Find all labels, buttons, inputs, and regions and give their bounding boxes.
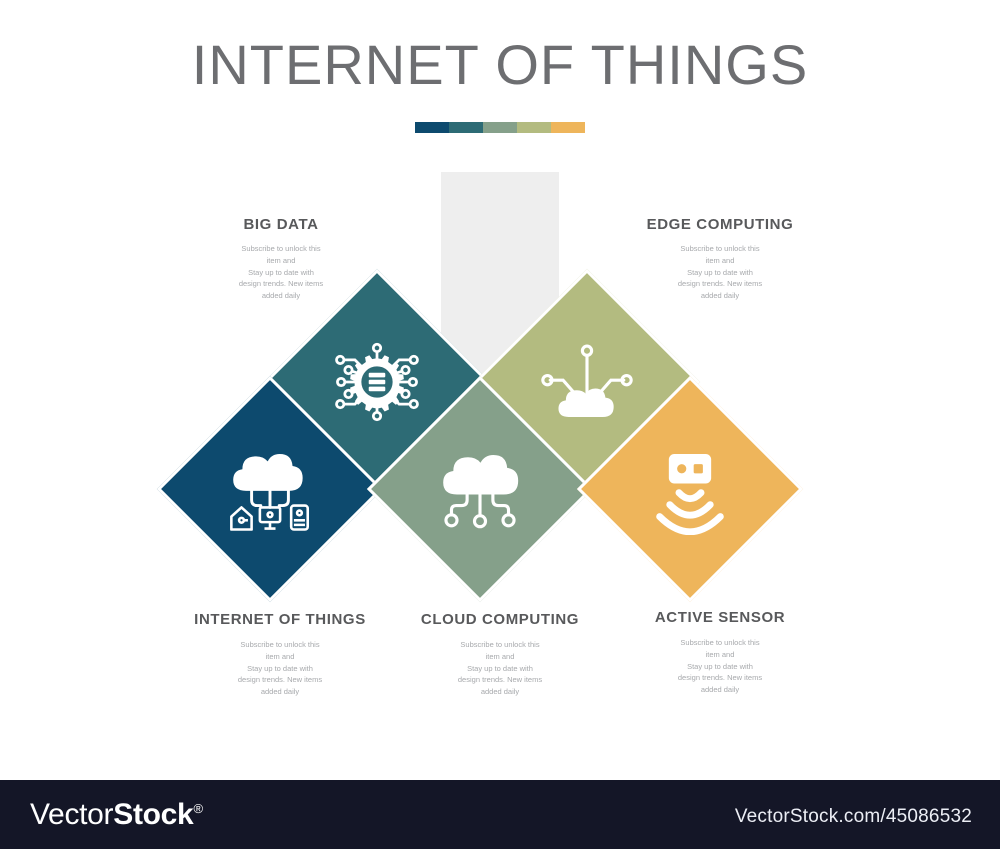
cloud-antenna-nodes-icon [541, 336, 633, 428]
item-description-edge-computing: Subscribe to unlock this item and Stay u… [615, 243, 825, 301]
label-block-edge-computing: EDGE COMPUTING Subscribe to unlock this … [615, 216, 825, 301]
sensor-waves-icon [644, 443, 736, 535]
rule-swatch-1 [415, 122, 449, 133]
cloud-connected-devices-icon [224, 443, 316, 535]
label-block-big-data: BIG DATA Subscribe to unlock this item a… [176, 216, 386, 301]
rule-swatch-5 [551, 122, 585, 133]
item-description-big-data: Subscribe to unlock this item and Stay u… [176, 243, 386, 301]
logo-text-stock: Stock [113, 798, 193, 831]
item-description-internet-of-things: Subscribe to unlock this item and Stay u… [175, 639, 385, 697]
logo-text-vector: Vector [30, 798, 113, 831]
gear-database-network-icon [331, 336, 423, 428]
label-block-cloud-computing: CLOUD COMPUTING Subscribe to unlock this… [395, 611, 605, 697]
label-block-active-sensor: ACTIVE SENSOR Subscribe to unlock this i… [615, 609, 825, 695]
page-title: INTERNET OF THINGS [0, 36, 1000, 95]
item-description-cloud-computing: Subscribe to unlock this item and Stay u… [395, 639, 605, 697]
vectorstock-reference: VectorStock.com/45086532 [735, 806, 972, 828]
item-label-big-data: BIG DATA [176, 216, 386, 234]
rule-swatch-2 [449, 122, 483, 133]
item-label-internet-of-things: INTERNET OF THINGS [175, 611, 385, 629]
item-label-active-sensor: ACTIVE SENSOR [615, 609, 825, 627]
item-description-active-sensor: Subscribe to unlock this item and Stay u… [615, 637, 825, 695]
registered-mark-icon: ® [193, 801, 202, 816]
vectorstock-logo: VectorStock® [30, 798, 203, 832]
footer-bar: VectorStock® VectorStock.com/45086532 [0, 780, 1000, 849]
cloud-circuit-icon [434, 443, 526, 535]
color-rule [415, 122, 585, 133]
item-label-edge-computing: EDGE COMPUTING [615, 216, 825, 234]
infographic-canvas: INTERNET OF THINGS [0, 0, 1000, 780]
rule-swatch-4 [517, 122, 551, 133]
rule-swatch-3 [483, 122, 517, 133]
item-label-cloud-computing: CLOUD COMPUTING [395, 611, 605, 629]
label-block-internet-of-things: INTERNET OF THINGS Subscribe to unlock t… [175, 611, 385, 697]
